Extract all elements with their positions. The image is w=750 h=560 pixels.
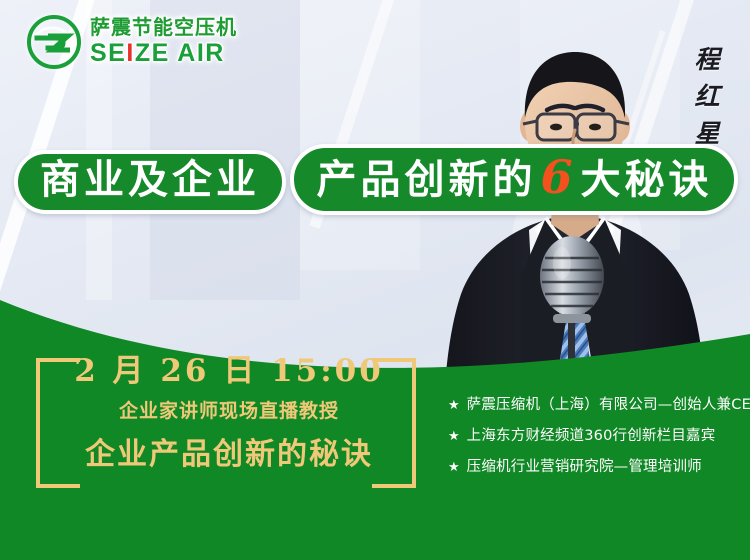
star-icon: ★ (448, 429, 460, 442)
brand-en-redbar: I (126, 39, 134, 67)
star-icon: ★ (448, 398, 460, 411)
brand-logo: 萨震节能空压机 SEIZE AIR (26, 14, 237, 70)
headline-number-six: 6 (536, 150, 580, 204)
brand-logo-text: 萨震节能空压机 SEIZE AIR (90, 18, 237, 66)
credentials-list: ★ 萨震压缩机（上海）有限公司—创始人兼CEO ★ 上海东方财经频道360行创新… (448, 393, 750, 486)
brand-name-cn: 萨震节能空压机 (90, 18, 237, 38)
poster-canvas: 萨震节能空压机 SEIZE AIR 程红星 商业及企业 产品创新的6大秘诀 2 … (0, 0, 750, 560)
brand-en-post: ZE AIR (135, 39, 225, 67)
brand-name-en: SEIZE AIR (90, 41, 237, 66)
headline-pill-1: 商业及企业 (14, 150, 286, 214)
event-datetime: 2 月 26 日 15:00 (64, 352, 394, 391)
brand-en-pre: SE (90, 39, 126, 67)
event-text-lines: 2 月 26 日 15:00 企业家讲师现场直播教授 企业产品创新的秘诀 (64, 352, 394, 473)
headline-line-1: 商业及企业 (40, 157, 260, 203)
star-icon: ★ (448, 460, 460, 473)
headline-pill-2: 产品创新的6大秘诀 (290, 144, 738, 215)
credential-text: 上海东方财经频道360行创新栏目嘉宾 (467, 424, 716, 445)
list-item: ★ 上海东方财经频道360行创新栏目嘉宾 (448, 424, 750, 445)
headline-line-2: 产品创新的6大秘诀 (316, 151, 712, 204)
list-item: ★ 压缩机行业营销研究院—管理培训师 (448, 455, 750, 476)
event-details-block: 2 月 26 日 15:00 企业家讲师现场直播教授 企业产品创新的秘诀 (36, 352, 416, 492)
credential-text: 萨震压缩机（上海）有限公司—创始人兼CEO (467, 393, 750, 414)
list-item: ★ 萨震压缩机（上海）有限公司—创始人兼CEO (448, 393, 750, 414)
event-topic: 企业产品创新的秘诀 (64, 429, 394, 473)
sz-circle-logo-icon (26, 14, 82, 70)
headline-group: 商业及企业 产品创新的6大秘诀 (14, 130, 738, 215)
headline-line2-before: 产品创新的 (316, 157, 536, 203)
credential-text: 压缩机行业营销研究院—管理培训师 (467, 455, 702, 476)
event-subtitle: 企业家讲师现场直播教授 (64, 396, 394, 423)
headline-line2-after: 大秘诀 (580, 157, 712, 203)
